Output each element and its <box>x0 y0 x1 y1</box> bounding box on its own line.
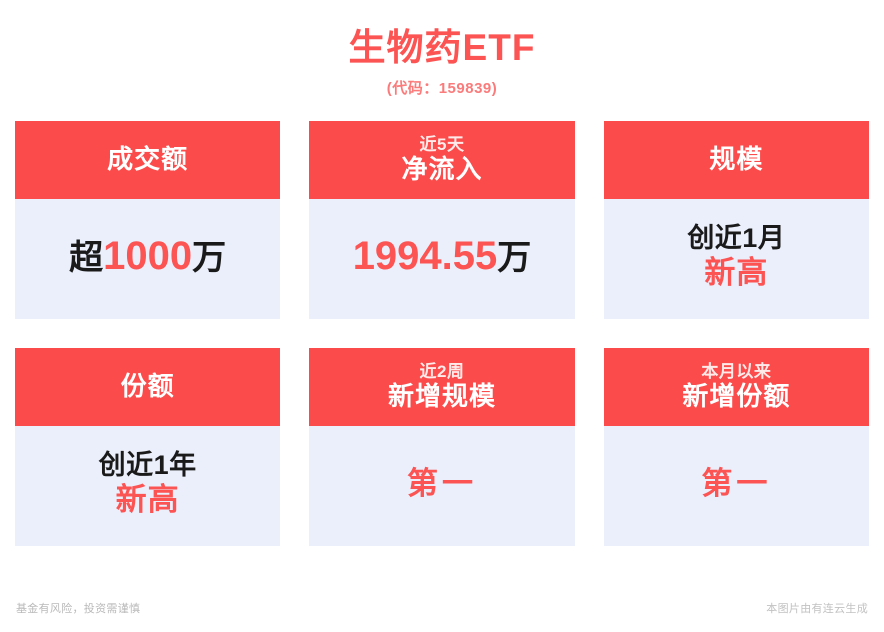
value-unit: 万 <box>497 239 531 277</box>
value-prefix: 超 <box>69 239 103 277</box>
stat-card-header-sub: 近5天 <box>420 136 465 154</box>
stat-card-body: 1994.55万 <box>309 199 574 319</box>
stat-card-header-main: 新增份额 <box>682 383 790 410</box>
stat-card-value-line1: 创近1月 <box>687 224 785 253</box>
stat-card-header: 近5天 净流入 <box>309 121 574 199</box>
stat-card-turnover: 成交额 超1000万 <box>15 121 280 319</box>
stat-card-header-main: 净流入 <box>401 156 482 183</box>
stat-card-net-inflow: 近5天 净流入 1994.55万 <box>309 121 574 319</box>
stat-card-scale-growth: 近2周 新增规模 第一 <box>309 348 574 546</box>
stat-card-header: 规模 <box>604 121 869 199</box>
value-unit: 万 <box>192 239 226 277</box>
risk-disclaimer: 基金有风险，投资需谨慎 <box>16 603 140 616</box>
stat-card-value: 超1000万 <box>69 235 226 278</box>
stat-card-header-sub: 本月以来 <box>701 363 771 381</box>
stat-card-scale: 规模 创近1月 新高 <box>604 121 869 319</box>
stat-card-value: 1994.55万 <box>353 235 532 278</box>
stat-card-shares: 份额 创近1年 新高 <box>15 348 280 546</box>
value-number: 1000 <box>103 234 192 278</box>
stat-card-header-main: 规模 <box>709 146 763 173</box>
fund-code-subtitle: (代码：159839) <box>0 80 884 98</box>
image-credit: 本图片由有连云生成 <box>766 603 868 616</box>
stat-card-value-line1: 创近1年 <box>99 451 197 480</box>
stat-card-header: 本月以来 新增份额 <box>604 348 869 426</box>
stat-card-body: 超1000万 <box>15 199 280 319</box>
stat-card-value-line2: 新高 <box>704 256 768 289</box>
stat-card-header: 成交额 <box>15 121 280 199</box>
stat-card-body: 第一 <box>309 426 574 546</box>
stat-card-header-main: 成交额 <box>107 146 188 173</box>
stat-card-body: 创近1年 新高 <box>15 426 280 546</box>
stat-card-header-main: 新增规模 <box>388 383 496 410</box>
stat-card-rank: 第一 <box>407 467 477 500</box>
stat-card-header-main: 份额 <box>121 373 175 400</box>
stat-card-header: 份额 <box>15 348 280 426</box>
stat-card-body: 第一 <box>604 426 869 546</box>
stat-card-header: 近2周 新增规模 <box>309 348 574 426</box>
stat-card-rank: 第一 <box>701 467 771 500</box>
value-number: 1994.55 <box>353 234 498 278</box>
poster-header: 生物药ETF (代码：159839) <box>0 0 884 98</box>
stat-card-value-line2: 新高 <box>116 483 180 516</box>
etf-stat-poster: 生物药ETF (代码：159839) 成交额 超1000万 近5天 净流入 <box>0 0 884 632</box>
stat-card-header-sub: 近2周 <box>420 363 465 381</box>
stat-card-share-growth: 本月以来 新增份额 第一 <box>604 348 869 546</box>
stat-card-body: 创近1月 新高 <box>604 199 869 319</box>
stat-card-grid: 成交额 超1000万 近5天 净流入 1994.55万 <box>15 121 869 546</box>
page-title: 生物药ETF <box>0 26 884 70</box>
poster-footer: 基金有风险，投资需谨慎 本图片由有连云生成 <box>0 603 884 632</box>
